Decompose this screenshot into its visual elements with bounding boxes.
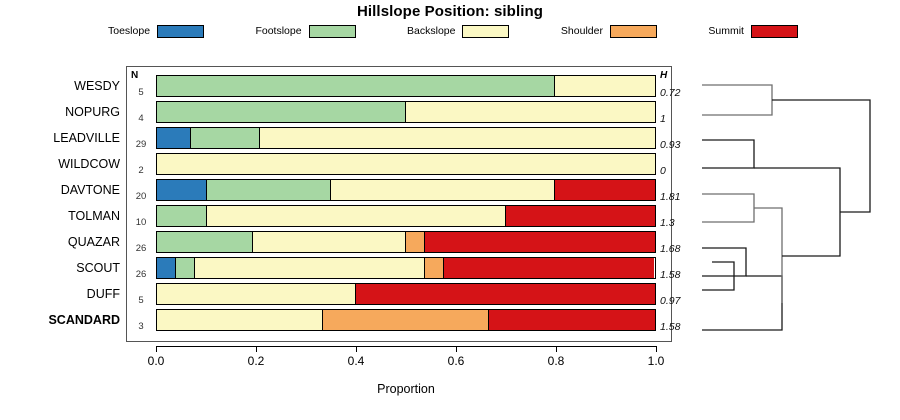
row-label-duff: DUFF <box>0 283 120 305</box>
x-axis-title: Proportion <box>156 382 656 396</box>
x-tick-label: 0.0 <box>136 354 176 368</box>
stacked-bar[interactable] <box>156 179 656 201</box>
bar-segment-footslope[interactable] <box>176 258 195 278</box>
x-tick-label: 0.4 <box>336 354 376 368</box>
stacked-bar[interactable] <box>156 257 656 279</box>
row-label-scout: SCOUT <box>0 257 120 279</box>
x-tick-label: 0.8 <box>536 354 576 368</box>
row-count: 26 <box>130 238 152 260</box>
bar-segment-backslope[interactable] <box>406 102 655 122</box>
row-label-quazar: QUAZAR <box>0 231 120 253</box>
x-tick <box>256 346 257 352</box>
row-count: 5 <box>130 290 152 312</box>
bar-segment-footslope[interactable] <box>157 232 253 252</box>
row-count: 10 <box>130 212 152 234</box>
row-label-tolman: TOLMAN <box>0 205 120 227</box>
bar-segment-shoulder[interactable] <box>406 232 425 252</box>
dendrogram-links <box>702 85 870 330</box>
row-count: 20 <box>130 186 152 208</box>
x-tick-label: 0.6 <box>436 354 476 368</box>
x-tick <box>556 346 557 352</box>
bar-segment-summit[interactable] <box>489 310 655 330</box>
bar-segment-footslope[interactable] <box>157 76 555 96</box>
bar-segment-summit[interactable] <box>425 232 655 252</box>
x-tick <box>356 346 357 352</box>
row-count: 2 <box>130 160 152 182</box>
stacked-bar[interactable] <box>156 127 656 149</box>
row-count: 5 <box>130 82 152 104</box>
bar-segment-summit[interactable] <box>444 258 655 278</box>
stacked-bar[interactable] <box>156 153 656 175</box>
bar-segment-shoulder[interactable] <box>323 310 489 330</box>
bar-segment-footslope[interactable] <box>207 180 332 200</box>
x-tick-label: 0.2 <box>236 354 276 368</box>
dendrogram-svg <box>690 60 895 350</box>
bar-segment-toeslope[interactable] <box>157 180 207 200</box>
dendrogram <box>690 60 895 350</box>
bar-segment-toeslope[interactable] <box>157 258 176 278</box>
stacked-bar[interactable] <box>156 283 656 305</box>
row-label-leadville: LEADVILLE <box>0 127 120 149</box>
stacked-bar[interactable] <box>156 205 656 227</box>
stacked-bar[interactable] <box>156 309 656 331</box>
x-tick <box>456 346 457 352</box>
bar-segment-footslope[interactable] <box>157 206 207 226</box>
row-count: 3 <box>130 316 152 338</box>
bar-segment-summit[interactable] <box>356 284 655 304</box>
bar-segment-backslope[interactable] <box>157 284 356 304</box>
row-label-scandard: SCANDARD <box>0 309 120 331</box>
x-tick <box>156 346 157 352</box>
bar-segment-backslope[interactable] <box>253 232 406 252</box>
stacked-bar[interactable] <box>156 75 656 97</box>
bar-segment-backslope[interactable] <box>260 128 655 148</box>
bar-segment-footslope[interactable] <box>157 102 406 122</box>
bar-segment-backslope[interactable] <box>331 180 555 200</box>
x-tick-label: 1.0 <box>636 354 676 368</box>
row-label-wesdy: WESDY <box>0 75 120 97</box>
bar-segment-summit[interactable] <box>555 180 655 200</box>
bar-segment-shoulder[interactable] <box>425 258 444 278</box>
bar-segment-backslope[interactable] <box>207 206 506 226</box>
bar-segment-backslope[interactable] <box>555 76 655 96</box>
stacked-bar[interactable] <box>156 101 656 123</box>
row-count: 29 <box>130 134 152 156</box>
bar-segment-toeslope[interactable] <box>157 128 191 148</box>
row-label-davtone: DAVTONE <box>0 179 120 201</box>
bar-segment-backslope[interactable] <box>195 258 425 278</box>
bar-segment-backslope[interactable] <box>157 154 655 174</box>
x-tick <box>656 346 657 352</box>
row-label-wildcow: WILDCOW <box>0 153 120 175</box>
chart-root: Hillslope Position: sibling ToeslopeFoot… <box>0 0 900 420</box>
stacked-bar[interactable] <box>156 231 656 253</box>
bar-segment-footslope[interactable] <box>191 128 260 148</box>
row-label-nopurg: NOPURG <box>0 101 120 123</box>
row-count: 26 <box>130 264 152 286</box>
x-axis-line <box>156 346 656 347</box>
bar-segment-backslope[interactable] <box>157 310 323 330</box>
row-count: 4 <box>130 108 152 130</box>
bar-segment-summit[interactable] <box>506 206 655 226</box>
